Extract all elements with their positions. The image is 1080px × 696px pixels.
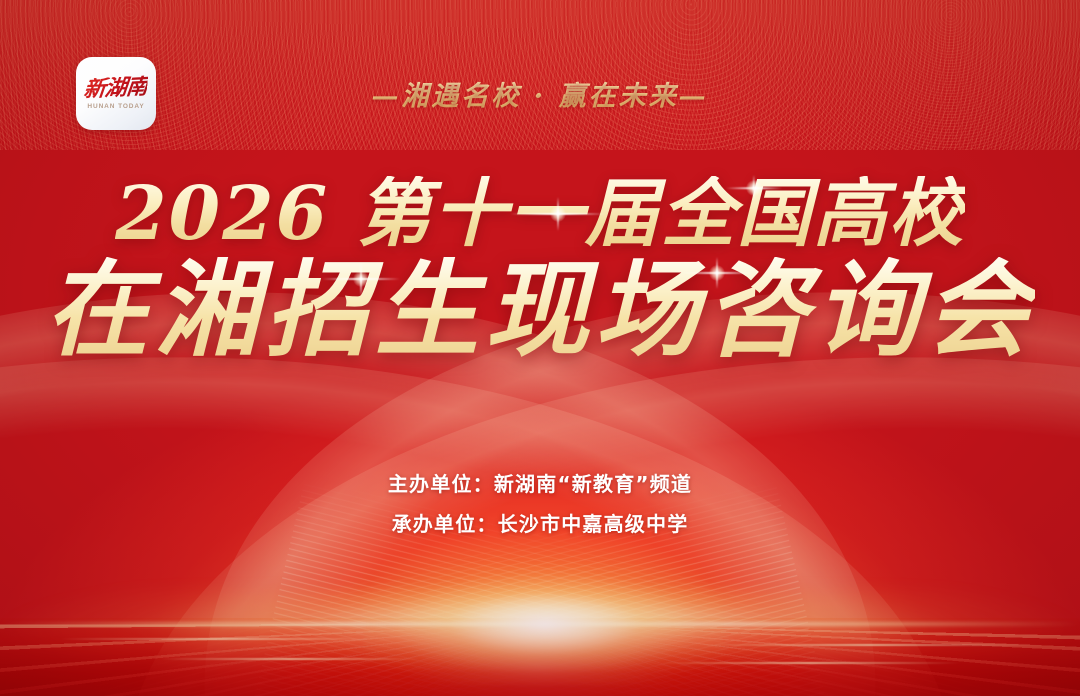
- event-title-line-1: 2026 第十一届全国高校: [115, 176, 965, 253]
- event-title-line-2: 在湘招生现场咨询会: [45, 257, 1035, 363]
- event-tagline: —湘遇名校 · 赢在未来—: [0, 74, 1080, 113]
- event-poster: 新湖南 HUNAN TODAY —湘遇名校 · 赢在未来— 2026 第十一届全…: [0, 0, 1080, 696]
- poster-content: 新湖南 HUNAN TODAY —湘遇名校 · 赢在未来— 2026 第十一届全…: [0, 0, 1080, 696]
- event-title-block: 2026 第十一届全国高校 在湘招生现场咨询会: [0, 176, 1080, 363]
- co-organizer-organization: 承办单位：长沙市中嘉高级中学: [0, 514, 1080, 534]
- organizer-block: 主办单位：新湖南“新教育”频道 承办单位：长沙市中嘉高级中学: [0, 474, 1080, 534]
- host-organization: 主办单位：新湖南“新教育”频道: [0, 474, 1080, 494]
